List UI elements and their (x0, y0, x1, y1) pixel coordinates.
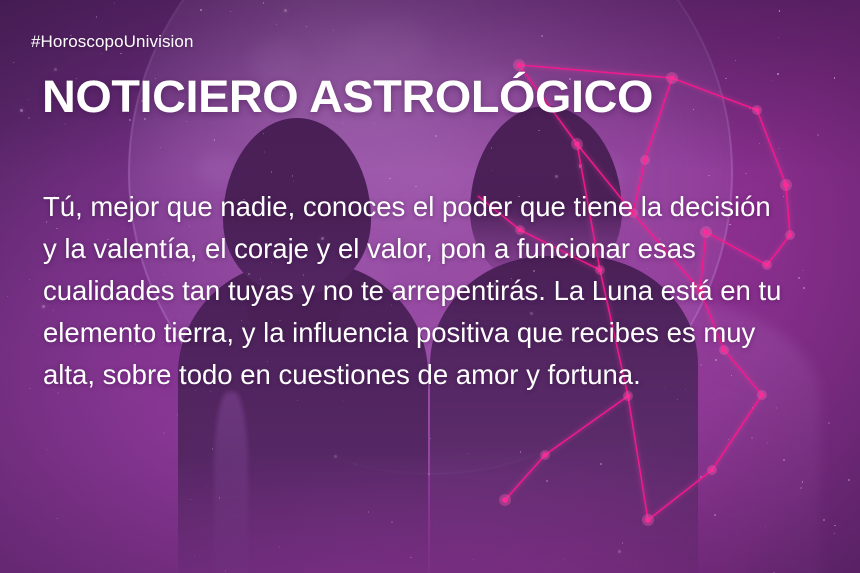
horoscope-poster: #HoroscopoUnivision NOTICIERO ASTROLÓGIC… (0, 0, 860, 573)
hashtag-label: #HoroscopoUnivision (31, 32, 194, 52)
horoscope-body-text: Tú, mejor que nadie, conoces el poder qu… (43, 186, 785, 396)
text-content: #HoroscopoUnivision NOTICIERO ASTROLÓGIC… (0, 0, 860, 573)
page-title: NOTICIERO ASTROLÓGICO (42, 72, 653, 122)
